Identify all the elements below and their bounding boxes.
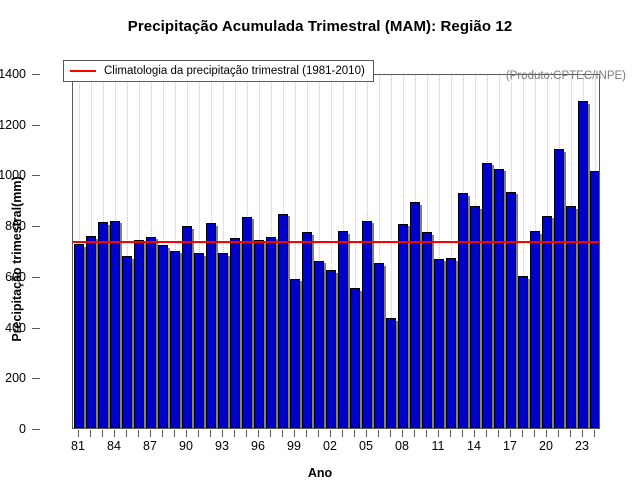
bar: [446, 258, 456, 428]
bar: [122, 256, 132, 428]
bar: [290, 279, 300, 428]
y-tick-label: 1200: [0, 118, 26, 132]
x-tick-mark: [234, 430, 235, 437]
bar: [530, 231, 540, 428]
x-tick-mark: [450, 430, 451, 437]
x-tick-mark: [402, 430, 403, 437]
x-tick-mark: [246, 430, 247, 437]
bar: [170, 251, 180, 429]
bar: [302, 232, 312, 428]
x-tick-mark: [330, 430, 331, 437]
bar: [494, 169, 504, 428]
bar: [86, 236, 96, 428]
bar: [254, 240, 264, 428]
x-tick-label: 11: [432, 439, 445, 453]
bar: [590, 171, 600, 428]
x-tick-label: 96: [251, 439, 265, 453]
x-tick-mark: [126, 430, 127, 437]
x-tick-mark: [78, 430, 79, 437]
y-tick-mark: [32, 74, 40, 75]
bar: [578, 101, 588, 428]
bar: [386, 318, 396, 428]
x-tick-label: 90: [179, 439, 193, 453]
x-tick-label: 05: [359, 439, 373, 453]
x-tick-mark: [510, 430, 511, 437]
x-tick-mark: [114, 430, 115, 437]
bar: [434, 259, 444, 428]
x-tick-label: 93: [215, 439, 229, 453]
bar: [158, 245, 168, 428]
bar: [506, 192, 516, 428]
bar: [374, 263, 384, 428]
bar: [74, 244, 84, 428]
bar: [278, 214, 288, 428]
x-tick-label: 99: [287, 439, 301, 453]
bar: [110, 221, 120, 428]
bar: [146, 237, 156, 428]
bar: [470, 206, 480, 428]
bar: [314, 261, 324, 428]
bar: [206, 223, 216, 428]
y-tick-mark: [32, 226, 40, 227]
x-tick-mark: [342, 430, 343, 437]
bar: [362, 221, 372, 428]
bar: [554, 149, 564, 428]
x-tick-label: 08: [395, 439, 409, 453]
x-tick-mark: [198, 430, 199, 437]
x-tick-mark: [462, 430, 463, 437]
bar: [266, 237, 276, 428]
x-tick-mark: [414, 430, 415, 437]
y-tick-label: 200: [5, 371, 26, 385]
bar: [566, 206, 576, 428]
bar: [410, 202, 420, 428]
bar: [338, 231, 348, 428]
x-tick-mark: [474, 430, 475, 437]
bar: [242, 217, 252, 428]
x-tick-mark: [174, 430, 175, 437]
x-tick-mark: [270, 430, 271, 437]
x-tick-mark: [522, 430, 523, 437]
x-tick-mark: [150, 430, 151, 437]
y-tick-mark: [32, 125, 40, 126]
x-tick-mark: [222, 430, 223, 437]
bar: [542, 216, 552, 428]
x-tick-mark: [258, 430, 259, 437]
bar: [350, 288, 360, 428]
x-tick-mark: [582, 430, 583, 437]
x-tick-mark: [162, 430, 163, 437]
x-tick-label: 87: [143, 439, 157, 453]
product-annotation: (Produto:CPTEC/INPE): [506, 70, 626, 82]
y-tick-label: 800: [5, 219, 26, 233]
x-tick-mark: [282, 430, 283, 437]
x-tick-mark: [366, 430, 367, 437]
bar: [398, 224, 408, 428]
plot-area: [72, 74, 600, 429]
x-axis-title: Ano: [0, 466, 640, 480]
x-tick-mark: [546, 430, 547, 437]
x-tick-mark: [534, 430, 535, 437]
x-tick-mark: [138, 430, 139, 437]
x-tick-mark: [210, 430, 211, 437]
legend-label-climatology: Climatologia da precipitação trimestral …: [104, 65, 365, 77]
x-tick-mark: [558, 430, 559, 437]
y-tick-label: 600: [5, 270, 26, 284]
bar: [230, 238, 240, 428]
x-tick-mark: [570, 430, 571, 437]
x-tick-mark: [426, 430, 427, 437]
x-tick-mark: [294, 430, 295, 437]
bar: [194, 253, 204, 428]
x-tick-label: 23: [575, 439, 589, 453]
bar: [182, 226, 192, 428]
bar: [422, 232, 432, 428]
y-tick-label: 400: [5, 321, 26, 335]
x-tick-label: 14: [467, 439, 481, 453]
x-axis: 818487909396990205081114172023: [0, 430, 640, 442]
x-tick-mark: [102, 430, 103, 437]
bar: [518, 276, 528, 428]
x-tick-label: 02: [323, 439, 337, 453]
x-tick-mark: [486, 430, 487, 437]
x-tick-mark: [498, 430, 499, 437]
bar: [326, 270, 336, 428]
x-tick-mark: [90, 430, 91, 437]
x-tick-label: 17: [503, 439, 517, 453]
x-tick-label: 81: [71, 439, 85, 453]
y-tick-mark: [32, 378, 40, 379]
chart-title: Precipitação Acumulada Trimestral (MAM):…: [0, 18, 640, 35]
bar: [458, 193, 468, 428]
x-tick-mark: [354, 430, 355, 437]
bar: [134, 240, 144, 428]
y-tick-mark: [32, 175, 40, 176]
x-tick-mark: [378, 430, 379, 437]
x-tick-mark: [390, 430, 391, 437]
legend: Climatologia da precipitação trimestral …: [63, 60, 374, 82]
x-tick-label: 84: [107, 439, 121, 453]
y-axis-title: Precipitação trimestral(mm): [10, 109, 24, 409]
y-tick-label: 1400: [0, 67, 26, 81]
y-axis: Precipitação trimestral(mm) 020040060080…: [0, 0, 72, 500]
x-tick-mark: [594, 430, 595, 437]
bar: [218, 253, 228, 428]
legend-line-swatch: [70, 70, 96, 72]
x-tick-mark: [438, 430, 439, 437]
bar: [98, 222, 108, 428]
precipitation-bar-chart: Precipitação Acumulada Trimestral (MAM):…: [0, 0, 640, 500]
y-tick-label: 1000: [0, 168, 26, 182]
x-tick-mark: [186, 430, 187, 437]
y-tick-mark: [32, 277, 40, 278]
y-tick-mark: [32, 328, 40, 329]
x-tick-mark: [318, 430, 319, 437]
climatology-reference-line: [73, 241, 599, 243]
bar: [482, 163, 492, 428]
x-tick-mark: [306, 430, 307, 437]
x-tick-label: 20: [539, 439, 553, 453]
